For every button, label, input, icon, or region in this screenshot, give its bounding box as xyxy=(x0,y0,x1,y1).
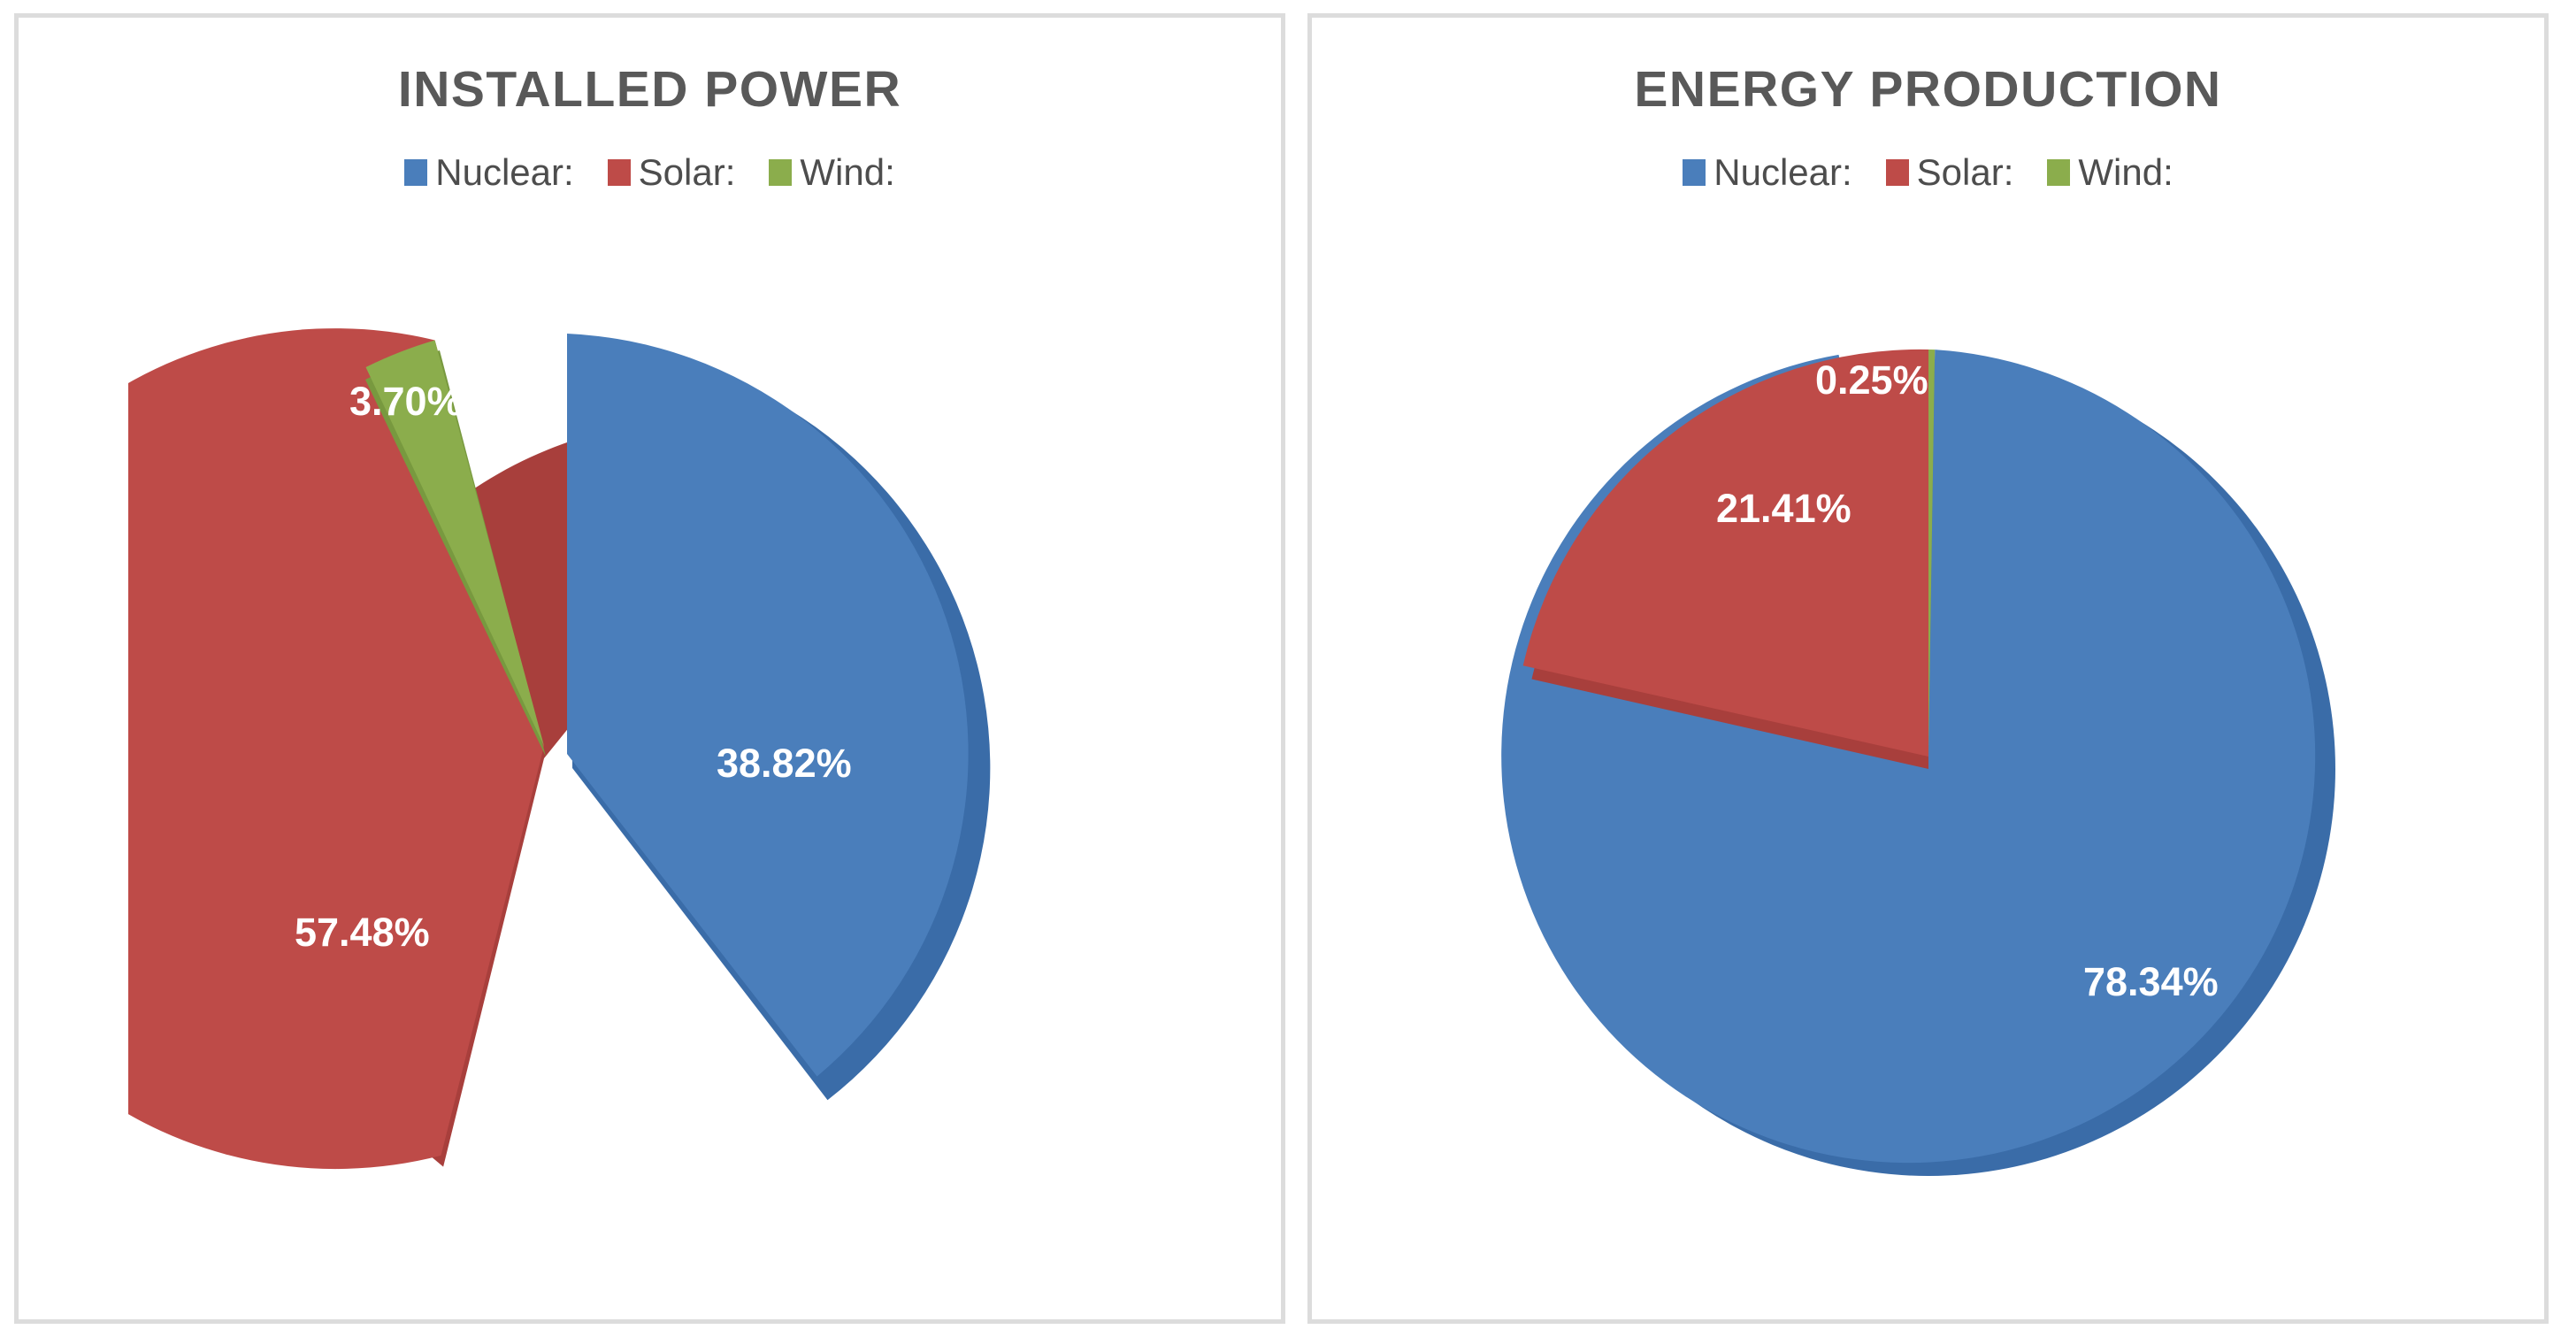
pie-chart-installed-power: 38.82% 57.48% 3.70% xyxy=(128,286,1172,1224)
legend-label-solar: Solar: xyxy=(1917,154,2014,191)
legend-swatch-wind-icon xyxy=(2047,159,2070,186)
legend-label-wind: Wind: xyxy=(2078,154,2173,191)
legend-swatch-solar-icon xyxy=(608,159,631,186)
legend-label-solar: Solar: xyxy=(639,154,736,191)
legend-swatch-wind-icon xyxy=(769,159,792,186)
pie-chart-energy-production: 78.34% 21.41% 0.25% xyxy=(1433,286,2424,1224)
chart-panel-installed-power: INSTALLED POWER Nuclear: Solar: Wind: xyxy=(14,13,1285,1324)
legend-label-nuclear: Nuclear: xyxy=(435,154,573,191)
pie-slice-nuclear[interactable] xyxy=(567,334,969,1077)
chart-panel-energy-production: ENERGY PRODUCTION Nuclear: Solar: Wind: xyxy=(1307,13,2549,1324)
chart-title-energy-production: ENERGY PRODUCTION xyxy=(1634,64,2221,117)
legend-swatch-solar-icon xyxy=(1886,159,1909,186)
legend-item-wind[interactable]: Wind: xyxy=(2047,154,2173,191)
legend-label-wind: Wind: xyxy=(800,154,894,191)
pie-label-solar: 57.48% xyxy=(295,910,430,955)
pie-label-nuclear: 38.82% xyxy=(717,741,852,786)
dual-pie-chart-figure: INSTALLED POWER Nuclear: Solar: Wind: xyxy=(0,0,2576,1337)
legend-label-nuclear: Nuclear: xyxy=(1713,154,1851,191)
legend-swatch-nuclear-icon xyxy=(1683,159,1706,186)
chart-title-installed-power: INSTALLED POWER xyxy=(398,64,901,117)
pie-label-nuclear: 78.34% xyxy=(2083,959,2219,1004)
pie-label-wind: 0.25% xyxy=(1815,357,1928,403)
pie-area-installed-power: 38.82% 57.48% 3.70% xyxy=(19,191,1281,1319)
legend-item-nuclear[interactable]: Nuclear: xyxy=(404,154,573,191)
legend-energy-production: Nuclear: Solar: Wind: xyxy=(1683,154,2173,191)
legend-swatch-nuclear-icon xyxy=(404,159,427,186)
pie-slice-solar-top[interactable] xyxy=(128,328,544,1169)
pie-label-wind: 3.70% xyxy=(349,379,463,424)
pie-area-energy-production: 78.34% 21.41% 0.25% xyxy=(1312,191,2544,1319)
legend-installed-power: Nuclear: Solar: Wind: xyxy=(404,154,894,191)
legend-item-wind[interactable]: Wind: xyxy=(769,154,894,191)
legend-item-solar[interactable]: Solar: xyxy=(1886,154,2014,191)
legend-item-solar[interactable]: Solar: xyxy=(608,154,736,191)
legend-item-nuclear[interactable]: Nuclear: xyxy=(1683,154,1851,191)
pie-label-solar: 21.41% xyxy=(1716,486,1851,531)
